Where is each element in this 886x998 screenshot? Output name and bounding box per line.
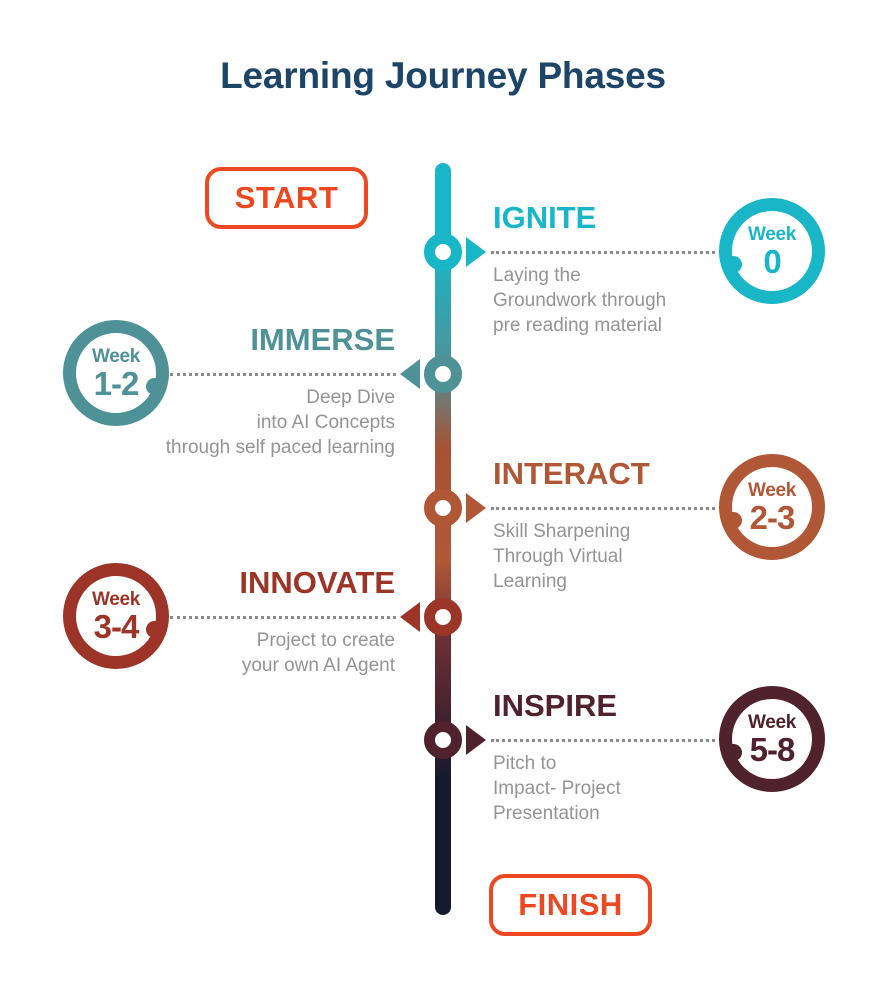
- week-value-inspire: 5-8: [750, 733, 795, 766]
- phase-title-interact: INTERACT: [493, 456, 650, 492]
- timeline-node-ignite: [424, 233, 462, 271]
- week-label-inspire: Week: [748, 713, 796, 732]
- week-label-interact: Week: [748, 481, 796, 500]
- timeline-node-inspire: [424, 721, 462, 759]
- week-label-innovate: Week: [92, 590, 140, 609]
- connector-nub-innovate: [146, 621, 163, 638]
- finish-badge: FINISH: [489, 874, 652, 936]
- timeline-node-immerse: [424, 355, 462, 393]
- week-label-ignite: Week: [748, 225, 796, 244]
- week-badge-immerse: Week 1-2: [63, 320, 169, 426]
- week-value-ignite: 0: [763, 245, 780, 278]
- week-badge-inspire: Week 5-8: [719, 686, 825, 792]
- connector-line-innovate: [170, 616, 396, 619]
- phase-description-ignite: Laying the Groundwork through pre readin…: [493, 263, 723, 338]
- phase-title-immerse: IMMERSE: [140, 322, 395, 358]
- phase-title-ignite: IGNITE: [493, 200, 596, 236]
- arrow-left-icon-innovate: [400, 602, 420, 632]
- week-value-immerse: 1-2: [94, 367, 139, 400]
- week-value-interact: 2-3: [750, 501, 795, 534]
- timeline-node-interact: [424, 489, 462, 527]
- connector-nub-inspire: [725, 744, 742, 761]
- connector-line-interact: [491, 507, 715, 510]
- arrow-right-icon-ignite: [466, 237, 486, 267]
- arrow-left-icon-immerse: [400, 359, 420, 389]
- timeline-spine: [435, 163, 451, 915]
- page-title: Learning Journey Phases: [0, 55, 886, 97]
- week-label-immerse: Week: [92, 347, 140, 366]
- connector-nub-immerse: [146, 378, 163, 395]
- phase-description-interact: Skill Sharpening Through Virtual Learnin…: [493, 519, 723, 594]
- phase-description-inspire: Pitch to Impact- Project Presentation: [493, 751, 723, 826]
- week-badge-interact: Week 2-3: [719, 454, 825, 560]
- week-value-innovate: 3-4: [94, 610, 139, 643]
- phase-title-innovate: INNOVATE: [140, 565, 395, 601]
- week-badge-ignite: Week 0: [719, 198, 825, 304]
- connector-line-inspire: [491, 739, 715, 742]
- arrow-right-icon-inspire: [466, 725, 486, 755]
- week-badge-innovate: Week 3-4: [63, 563, 169, 669]
- phase-title-inspire: INSPIRE: [493, 688, 617, 724]
- start-badge: START: [205, 167, 368, 229]
- connector-line-ignite: [491, 251, 715, 254]
- connector-nub-ignite: [725, 256, 742, 273]
- timeline-node-innovate: [424, 598, 462, 636]
- connector-nub-interact: [725, 512, 742, 529]
- arrow-right-icon-interact: [466, 493, 486, 523]
- connector-line-immerse: [170, 373, 396, 376]
